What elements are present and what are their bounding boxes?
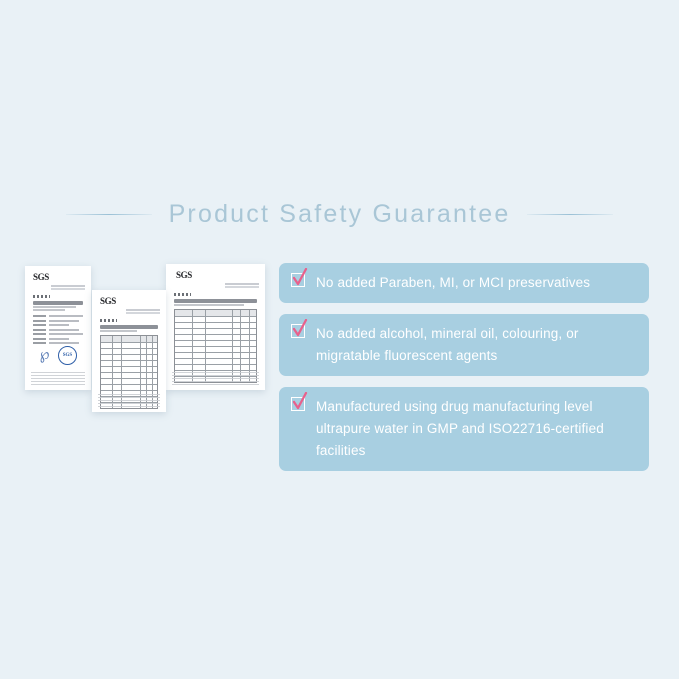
stamp-seal-icon: SGS	[58, 346, 77, 365]
guarantee-item: No added Paraben, MI, or MCI preservativ…	[279, 263, 649, 303]
sgs-logo: SGS	[100, 297, 160, 306]
certificate-field-row	[33, 324, 83, 326]
guarantee-list: No added Paraben, MI, or MCI preservativ…	[279, 263, 649, 482]
certificate-footer-text	[31, 372, 85, 385]
guarantee-item: Manufactured using drug manufacturing le…	[279, 387, 649, 471]
certificate-document-right: SGS	[166, 264, 265, 390]
guarantee-item-text: No added alcohol, mineral oil, colouring…	[316, 323, 635, 367]
sgs-logo: SGS	[176, 271, 259, 280]
certificate-document-left: SGS ℘ SGS	[25, 266, 91, 390]
certificate-headline	[174, 299, 257, 303]
sgs-logo: SGS	[33, 273, 85, 282]
certificate-subline	[33, 306, 76, 308]
certificate-document-middle: SGS	[92, 290, 166, 412]
section-header: Product Safety Guarantee	[0, 196, 679, 232]
certificate-field-row	[33, 329, 83, 331]
guarantee-item: No added alcohol, mineral oil, colouring…	[279, 314, 649, 376]
certificate-subline	[33, 309, 65, 311]
certificate-stack: SGS ℘ SGS SGS	[0, 0, 280, 679]
certificate-field-row	[33, 315, 83, 317]
certificate-subtitle-glyphs	[174, 293, 191, 296]
table-header-row	[175, 310, 256, 317]
title-rule-right	[527, 214, 613, 215]
certificate-meta	[31, 285, 85, 293]
certificate-field-row	[33, 320, 83, 322]
checkbox-checked-icon	[291, 273, 307, 289]
title-rule-left	[66, 214, 152, 215]
certificate-field-row	[33, 338, 83, 340]
certificate-footer-text	[98, 394, 160, 407]
table-header-row	[101, 336, 157, 343]
checkbox-checked-icon	[291, 397, 307, 413]
certificate-meta	[98, 309, 160, 317]
certificate-subtitle-glyphs	[100, 319, 117, 322]
certificate-headline	[33, 301, 83, 305]
certificate-footer-text	[172, 372, 259, 385]
certificate-meta	[172, 283, 259, 291]
page-title: Product Safety Guarantee	[152, 197, 528, 231]
certificate-headline	[100, 325, 158, 329]
guarantee-item-text: Manufactured using drug manufacturing le…	[316, 396, 635, 462]
certificate-subline	[174, 304, 244, 306]
certificate-fields	[33, 315, 83, 344]
checkbox-checked-icon	[291, 324, 307, 340]
certificate-subtitle-glyphs	[33, 295, 50, 298]
certificate-subline	[100, 330, 137, 332]
guarantee-item-text: No added Paraben, MI, or MCI preservativ…	[316, 272, 590, 294]
certificate-field-row	[33, 333, 83, 335]
sgs-stamp: ℘ SGS	[39, 344, 79, 366]
